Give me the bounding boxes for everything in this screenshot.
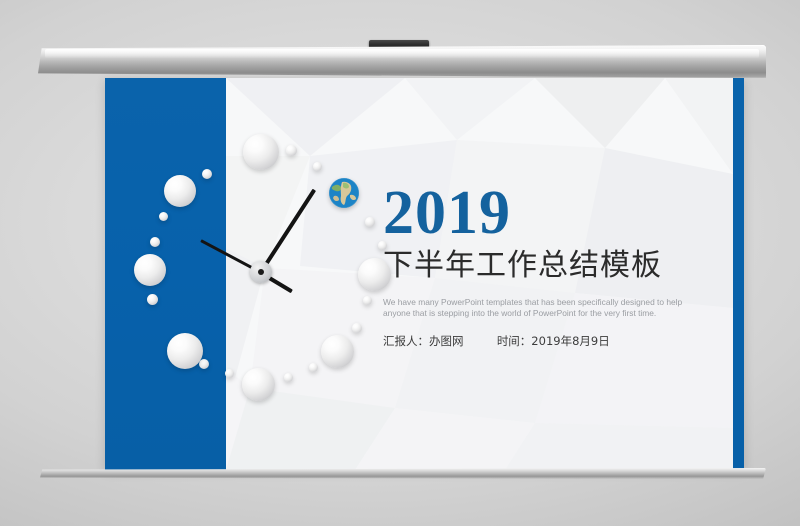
clock-marker-ball: [321, 335, 354, 368]
projector-screen-housing: [38, 45, 766, 78]
clock-dot-ball: [286, 145, 297, 156]
slide-title: 下半年工作总结模板: [383, 249, 713, 283]
earth-globe-marker: [329, 178, 359, 208]
clock-marker-ball: [243, 134, 279, 170]
clock-dot-ball: [309, 363, 318, 372]
clock-center-dot: [258, 269, 264, 275]
clock-dot-ball: [159, 212, 168, 221]
clock-marker-ball: [134, 254, 166, 286]
slide-right-accent-strip: [733, 78, 744, 470]
housing-bar: [38, 45, 766, 78]
clock-dot-ball: [225, 369, 234, 378]
slide-meta-line: 汇报人：办图网 时间：2019年8月9日: [383, 333, 713, 349]
housing-highlight: [45, 49, 758, 58]
clock-dot-ball: [199, 359, 209, 369]
clock-dot-ball: [202, 169, 212, 179]
slide-year: 2019: [383, 183, 713, 243]
clock-dot-ball: [313, 162, 322, 171]
clock-marker-ball: [242, 368, 275, 401]
slide-description: We have many PowerPoint templates that h…: [383, 297, 701, 320]
clock-dot-ball: [150, 237, 160, 247]
projector-screen-weight-bar: [40, 468, 766, 479]
clock-dot-ball: [365, 217, 375, 227]
clock-marker-ball: [164, 175, 196, 207]
clock-minute-hand: [259, 189, 316, 273]
clock-dot-ball: [147, 294, 158, 305]
clock-dot-ball: [352, 323, 362, 333]
sphere-clock-graphic: [125, 136, 397, 408]
clock-dot-ball: [363, 296, 372, 305]
date-label: 时间：2019年8月9日: [497, 334, 610, 348]
slide-text-block: 2019 下半年工作总结模板 We have many PowerPoint t…: [383, 183, 713, 349]
clock-marker-ball: [167, 333, 203, 369]
presentation-scene: 2019 下半年工作总结模板 We have many PowerPoint t…: [0, 0, 800, 526]
clock-dot-ball: [284, 373, 293, 382]
slide-canvas[interactable]: 2019 下半年工作总结模板 We have many PowerPoint t…: [105, 78, 744, 470]
presenter-label: 汇报人：办图网: [383, 334, 464, 348]
